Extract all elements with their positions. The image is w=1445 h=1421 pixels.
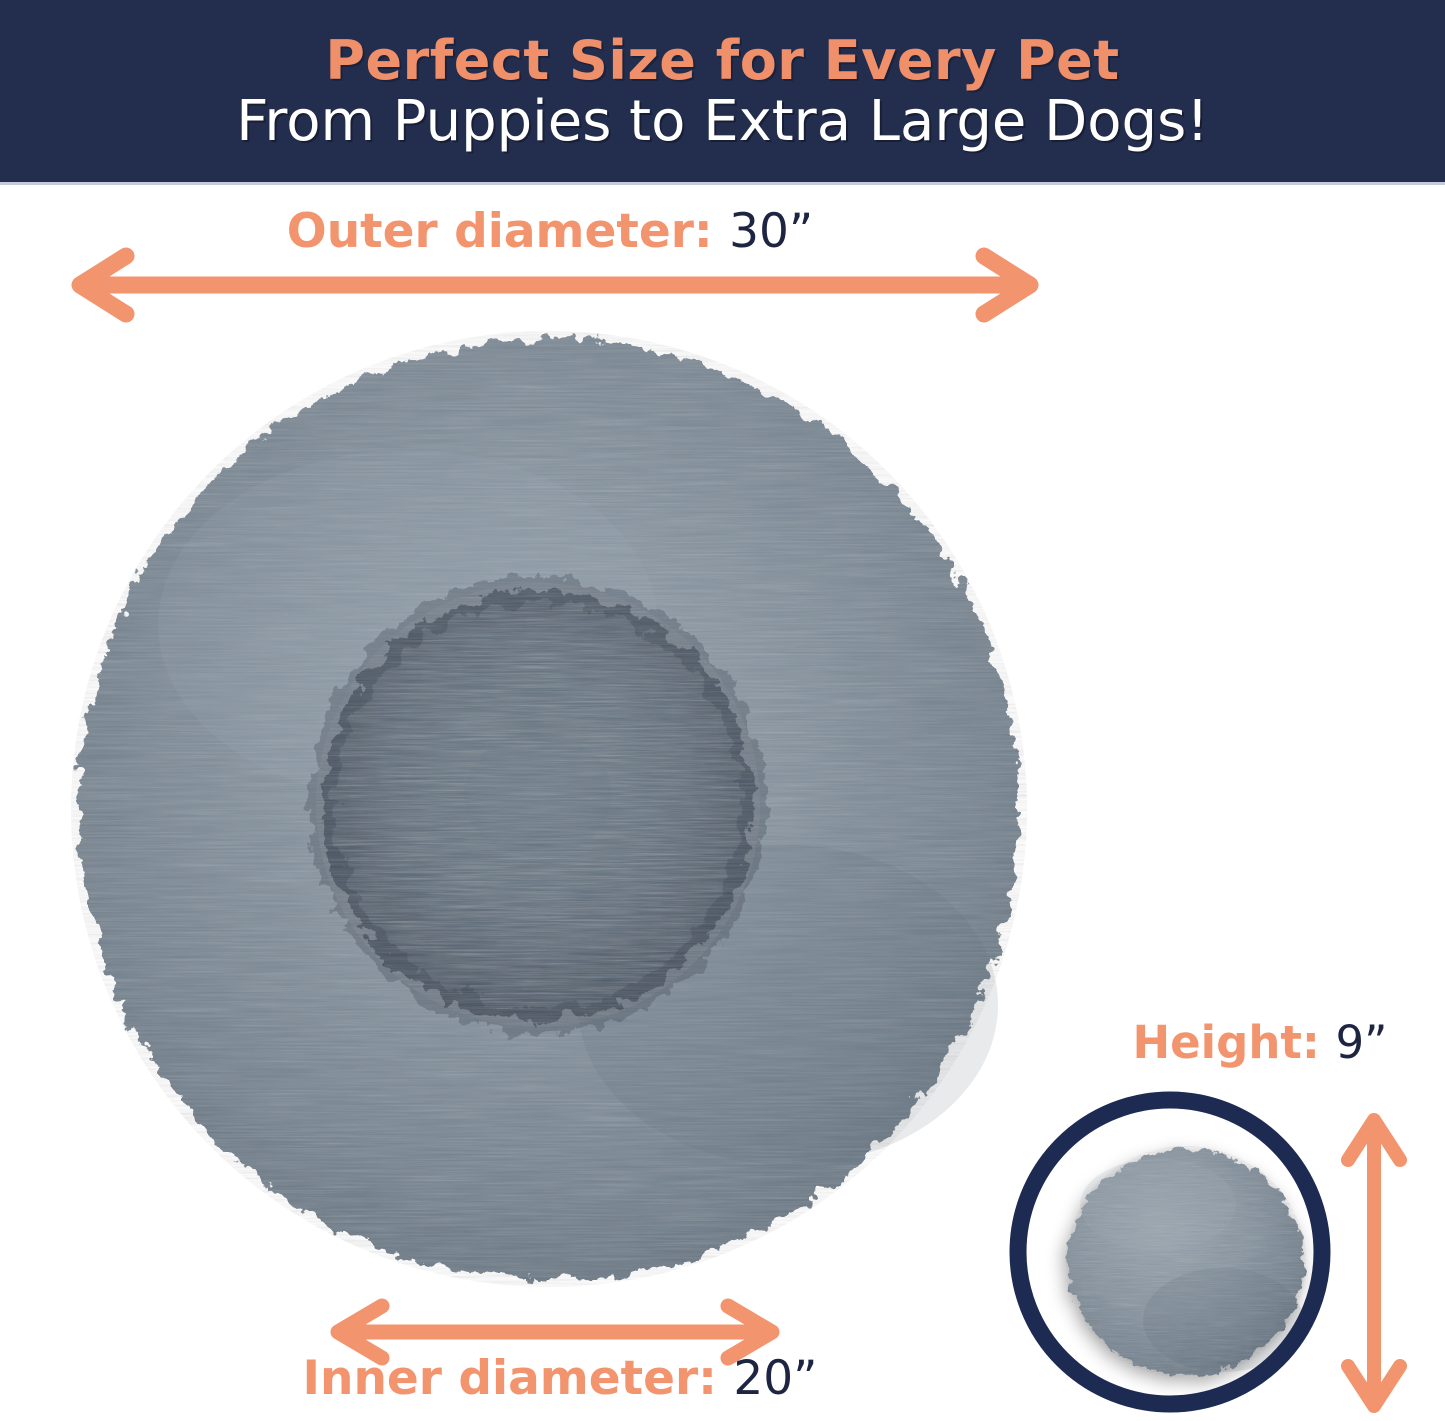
height-label: Height: 9” — [1090, 1020, 1430, 1065]
height-arrow-icon — [1336, 1108, 1412, 1418]
pet-bed-top-view — [68, 325, 1030, 1293]
height-label-text: Height: — [1133, 1016, 1320, 1069]
inner-diameter-label: Inner diameter: 20” — [230, 1355, 890, 1402]
inner-diameter-value: 20” — [733, 1351, 817, 1406]
height-callout-circle — [1008, 1090, 1332, 1414]
banner-subtitle: From Puppies to Extra Large Dogs! — [236, 93, 1208, 152]
header-banner: Perfect Size for Every Pet From Puppies … — [0, 0, 1445, 185]
banner-title: Perfect Size for Every Pet — [325, 33, 1119, 90]
outer-diameter-arrow-icon — [60, 250, 1050, 320]
height-value: 9” — [1336, 1016, 1388, 1069]
inner-diameter-label-text: Inner diameter: — [303, 1351, 717, 1406]
outer-diameter-label: Outer diameter: 30” — [0, 208, 1100, 255]
